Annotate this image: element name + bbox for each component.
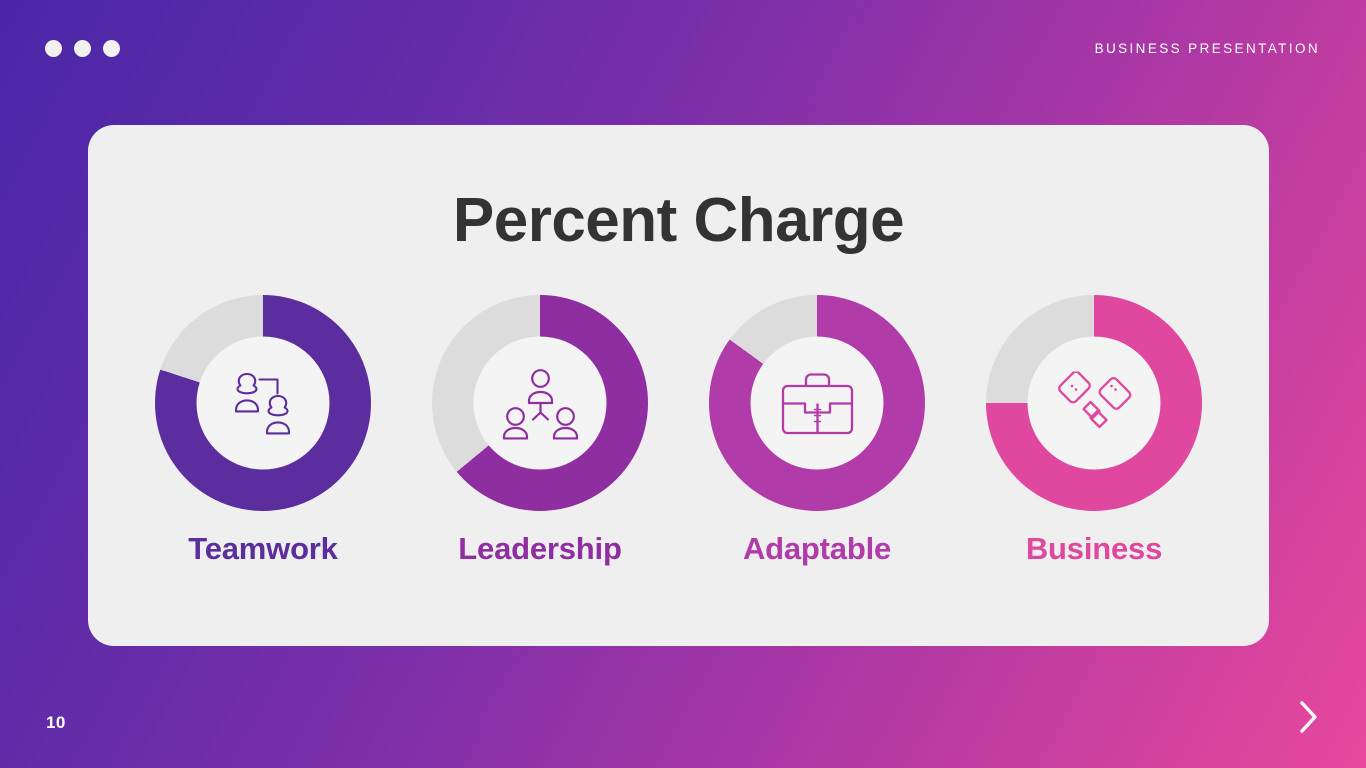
donut-label-leadership: Leadership <box>458 531 621 567</box>
donut-row: Teamwork <box>138 295 1219 567</box>
donut-hole-teamwork <box>197 337 330 470</box>
donut-hole-adaptable <box>751 337 884 470</box>
handshake-icon <box>1054 371 1134 435</box>
briefcase-icon <box>780 371 854 435</box>
window-dots <box>45 40 120 57</box>
donut-hole-leadership <box>474 337 607 470</box>
donut-wrap-adaptable <box>709 295 925 511</box>
next-slide-button[interactable] <box>1292 698 1326 736</box>
content-card: Percent Charge Team <box>88 125 1269 646</box>
donut-label-adaptable: Adaptable <box>743 531 891 567</box>
donut-wrap-business <box>986 295 1202 511</box>
donut-wrap-teamwork <box>155 295 371 511</box>
donut-label-business: Business <box>1026 531 1162 567</box>
donut-item-business[interactable]: Business <box>969 295 1219 567</box>
donut-item-leadership[interactable]: Leadership <box>415 295 665 567</box>
team-hierarchy-icon <box>501 367 579 439</box>
presentation-slide: BUSINESS PRESENTATION Percent Charge <box>0 0 1366 768</box>
slide-eyebrow: BUSINESS PRESENTATION <box>1095 41 1320 56</box>
donut-label-teamwork: Teamwork <box>188 531 337 567</box>
donut-item-adaptable[interactable]: Adaptable <box>692 295 942 567</box>
window-dot-2 <box>74 40 91 57</box>
page-number: 10 <box>46 713 66 733</box>
donut-hole-business <box>1028 337 1161 470</box>
page-title: Percent Charge <box>88 185 1269 256</box>
chevron-right-icon <box>1299 700 1319 734</box>
window-dot-3 <box>103 40 120 57</box>
donut-wrap-leadership <box>432 295 648 511</box>
two-people-network-icon <box>226 369 300 437</box>
donut-item-teamwork[interactable]: Teamwork <box>138 295 388 567</box>
window-dot-1 <box>45 40 62 57</box>
